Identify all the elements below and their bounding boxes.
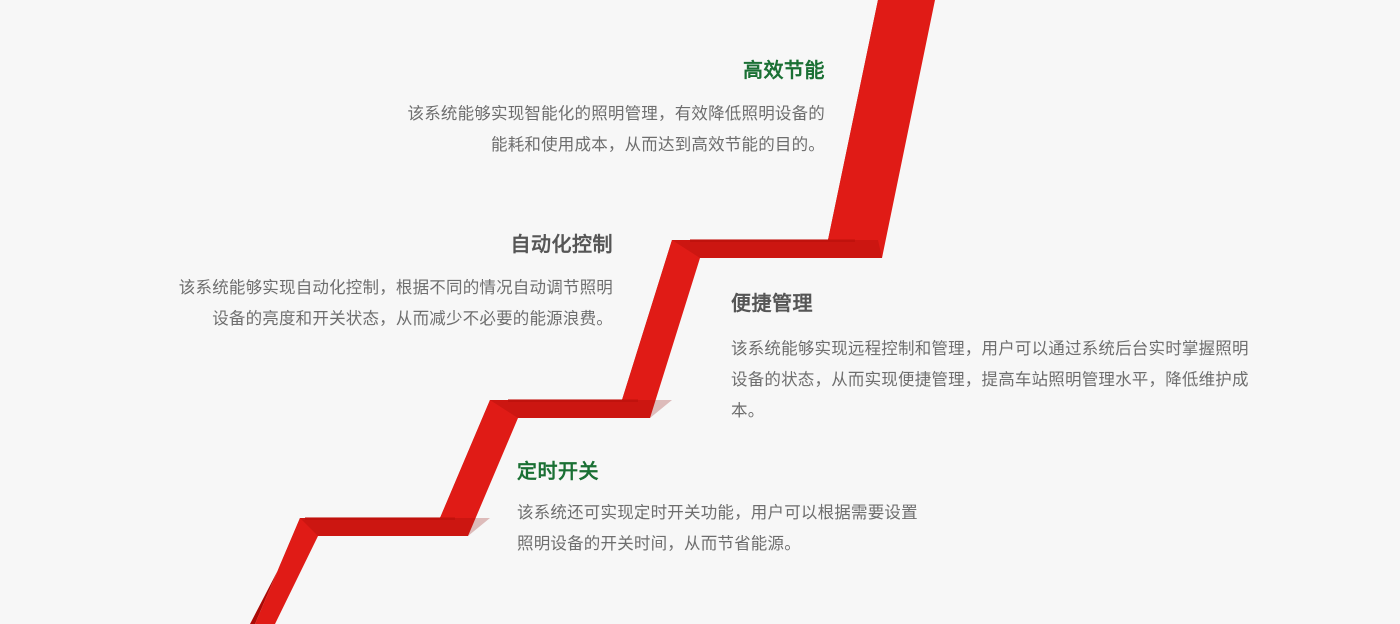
feature-heading-efficiency: 高效节能 [395, 58, 825, 82]
feature-block-management: 便捷管理 该系统能够实现远程控制和管理，用户可以通过系统后台实时掌握照明设备的状… [731, 291, 1256, 426]
feature-body-automation: 该系统能够实现自动化控制，根据不同的情况自动调节照明设备的亮度和开关状态，从而减… [178, 272, 613, 334]
feature-body-efficiency: 该系统能够实现智能化的照明管理，有效降低照明设备的能耗和使用成本，从而达到高效节… [395, 98, 825, 160]
feature-block-efficiency: 高效节能 该系统能够实现智能化的照明管理，有效降低照明设备的能耗和使用成本，从而… [395, 58, 825, 160]
feature-heading-automation: 自动化控制 [178, 232, 613, 256]
feature-block-timer: 定时开关 该系统还可实现定时开关功能，用户可以根据需要设置照明设备的开关时间，从… [517, 459, 932, 559]
feature-body-timer: 该系统还可实现定时开关功能，用户可以根据需要设置照明设备的开关时间，从而节省能源… [517, 497, 932, 559]
feature-body-management: 该系统能够实现远程控制和管理，用户可以通过系统后台实时掌握照明设备的状态，从而实… [731, 333, 1256, 426]
feature-heading-management: 便捷管理 [731, 291, 1256, 315]
feature-heading-timer: 定时开关 [517, 459, 932, 483]
infographic-canvas: 高效节能 该系统能够实现智能化的照明管理，有效降低照明设备的能耗和使用成本，从而… [0, 0, 1400, 624]
feature-block-automation: 自动化控制 该系统能够实现自动化控制，根据不同的情况自动调节照明设备的亮度和开关… [178, 232, 613, 334]
